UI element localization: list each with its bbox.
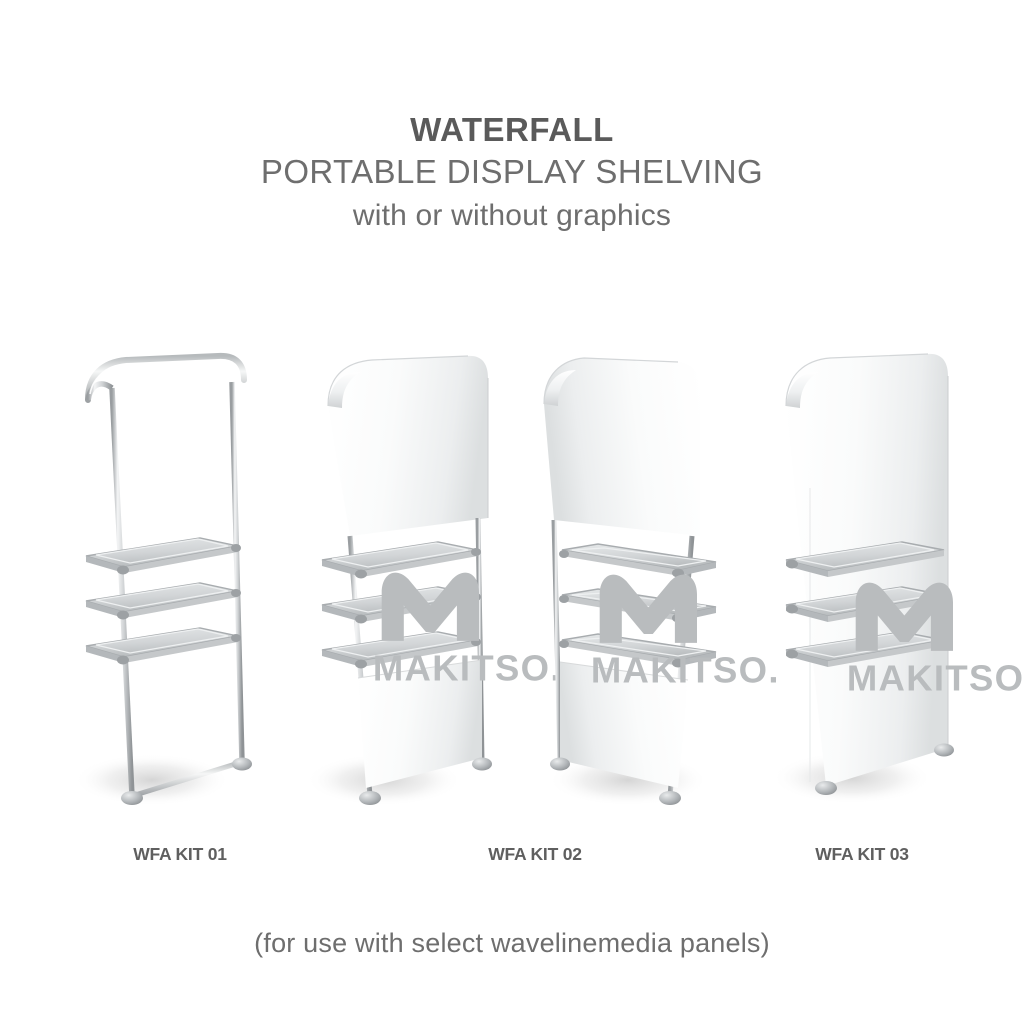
base-foot — [472, 758, 492, 771]
floor-shadow — [74, 754, 230, 806]
shelf-bracket — [786, 560, 798, 659]
shelf[interactable] — [322, 542, 478, 577]
product-unit-wfa-kit-02-alt[interactable]: MAKITSO. — [520, 348, 750, 818]
base-foot — [815, 781, 837, 795]
shelf[interactable] — [86, 583, 238, 618]
base-foot — [934, 744, 954, 757]
base-foot — [121, 791, 143, 805]
base-foot — [359, 791, 381, 805]
base-foot — [550, 758, 570, 771]
shelf[interactable] — [562, 634, 716, 666]
product-caption-wfa-kit-02: WFA KIT 02 — [488, 844, 582, 865]
product-caption-wfa-kit-03: WFA KIT 03 — [815, 844, 909, 865]
product-caption-wfa-kit-01: WFA KIT 01 — [133, 844, 227, 865]
product-unit-wfa-kit-02[interactable]: MAKITSO. — [292, 348, 522, 818]
base-foot — [232, 758, 252, 771]
page-tagline: with or without graphics — [0, 194, 1024, 238]
shelf[interactable] — [86, 538, 238, 573]
product-unit-wfa-kit-03[interactable]: MAKITSO. — [752, 348, 982, 818]
heading-block: WATERFALL PORTABLE DISPLAY SHELVING with… — [0, 110, 1024, 238]
rear-pole — [232, 382, 242, 762]
shelf[interactable] — [322, 587, 478, 622]
base-graphic-panel[interactable] — [358, 660, 482, 788]
shelf[interactable] — [562, 589, 716, 621]
footer-note: (for use with select wavelinemedia panel… — [0, 928, 1024, 959]
top-graphic-panel[interactable] — [328, 356, 488, 536]
front-pole — [112, 388, 132, 796]
product-unit-wfa-kit-01[interactable] — [60, 348, 290, 818]
product-showcase-image: WATERFALL PORTABLE DISPLAY SHELVING with… — [0, 0, 1024, 1024]
base-foot — [659, 791, 681, 805]
shelf[interactable] — [322, 632, 478, 667]
shelf[interactable] — [86, 628, 238, 663]
top-graphic-panel[interactable] — [544, 358, 700, 536]
page-title: WATERFALL — [0, 110, 1024, 150]
page-subtitle: PORTABLE DISPLAY SHELVING — [0, 150, 1024, 194]
rear-pole — [554, 520, 560, 762]
